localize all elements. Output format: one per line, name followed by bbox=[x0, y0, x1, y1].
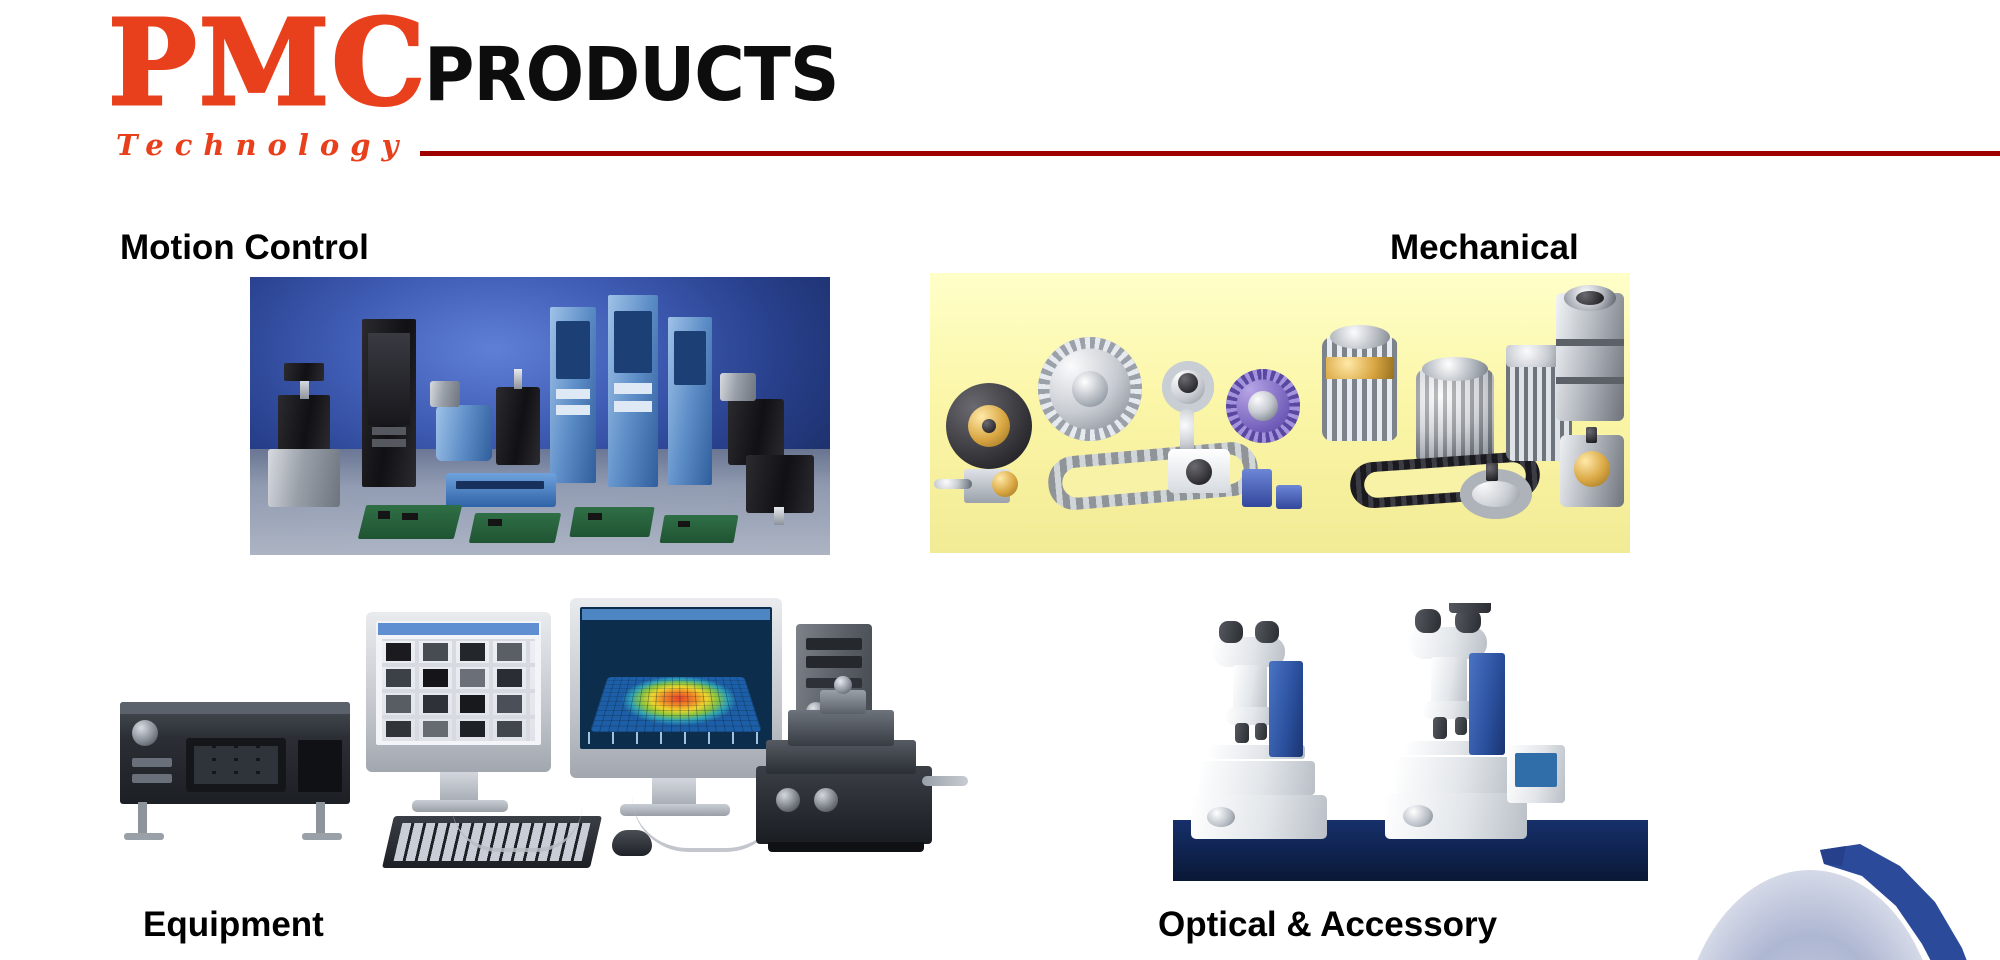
section-label-motion-control: Motion Control bbox=[120, 228, 369, 268]
brand-logo: PMC Technology bbox=[108, 4, 418, 154]
photo-optical-accessory bbox=[1173, 603, 1648, 881]
photo-mechanical bbox=[930, 273, 1630, 553]
slide-canvas: PMC Technology PRODUCTS Motion Control M… bbox=[0, 0, 2000, 960]
page-title: PRODUCTS bbox=[424, 38, 839, 112]
logo-wordmark: PMC bbox=[108, 4, 418, 122]
section-label-equipment: Equipment bbox=[143, 905, 324, 945]
logo-tagline: Technology bbox=[116, 128, 418, 162]
photo-equipment bbox=[120, 590, 1010, 880]
section-label-mechanical: Mechanical bbox=[1390, 228, 1579, 268]
section-label-optical-accessory: Optical & Accessory bbox=[1158, 905, 1497, 945]
blue-swoosh-icon bbox=[1750, 840, 2000, 960]
title-underline-rule bbox=[420, 151, 2000, 156]
corner-decoration bbox=[1640, 840, 2000, 960]
decoration-dome bbox=[1680, 870, 1940, 960]
photo-motion-control bbox=[250, 277, 830, 555]
